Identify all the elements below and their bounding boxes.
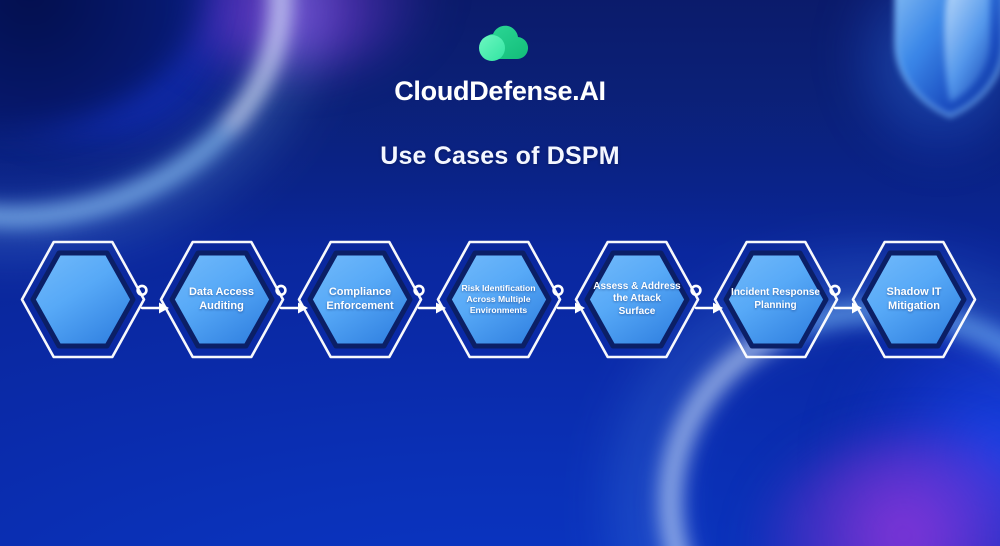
hexagon-fill bbox=[449, 253, 549, 346]
flow-step-4[interactable]: Risk IdentificationAcross MultipleEnviro… bbox=[434, 236, 564, 363]
cloud-logo-icon bbox=[471, 22, 529, 66]
flow-step-3[interactable]: ComplianceEnforcement bbox=[295, 236, 425, 363]
flow-step-7[interactable]: Shadow ITMitigation bbox=[849, 236, 979, 363]
slide-header: CloudDefense.AI Use Cases of DSPM bbox=[0, 0, 1000, 171]
hexagon-fill bbox=[310, 253, 410, 346]
flow-step-5[interactable]: Assess & Addressthe AttackSurface bbox=[572, 236, 702, 363]
flow-step-1[interactable] bbox=[18, 236, 148, 363]
flow-step-2[interactable]: Data AccessAuditing bbox=[157, 236, 287, 363]
hexagon-fill bbox=[33, 253, 133, 346]
hexagon-fill bbox=[726, 253, 826, 346]
brand-name: CloudDefense.AI bbox=[394, 76, 606, 107]
dspm-use-cases-flow: Data AccessAuditingComplianceEnforcement… bbox=[0, 236, 1000, 366]
hexagon-fill bbox=[172, 253, 272, 346]
hexagon-fill bbox=[864, 253, 964, 346]
slide-canvas: CloudDefense.AI Use Cases of DSPM Data A… bbox=[0, 0, 1000, 546]
flow-step-6[interactable]: Incident ResponsePlanning bbox=[711, 236, 841, 363]
hexagon-fill bbox=[587, 253, 687, 346]
page-title: Use Cases of DSPM bbox=[380, 142, 620, 171]
